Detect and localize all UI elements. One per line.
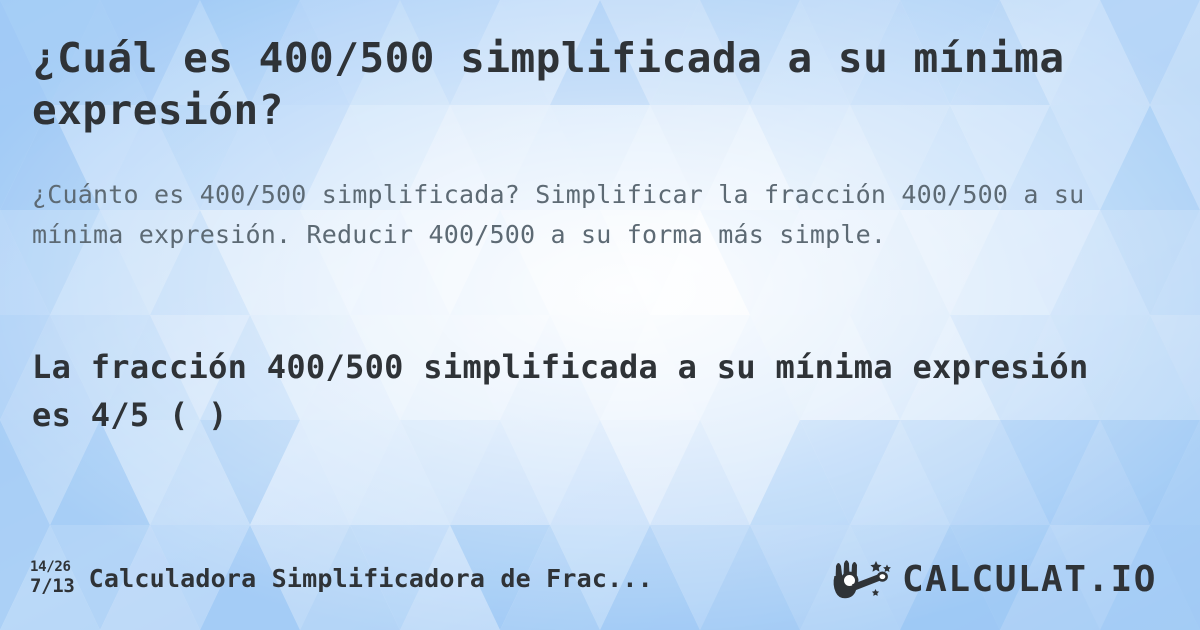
page-title: ¿Cuál es 400/500 simplificada a su mínim… (32, 32, 1092, 136)
brand-logo[interactable]: CALCULAT.IO (830, 556, 1170, 600)
fraction-simplify-icon: 14/26 7/13 (30, 560, 75, 596)
footer-bar: 14/26 7/13 Calculadora Simplificadora de… (0, 554, 1200, 602)
fraction-icon-original: 14/26 (30, 560, 71, 574)
hand-magic-wand-icon (834, 560, 891, 598)
fraction-icon-simplified: 7/13 (30, 577, 75, 596)
answer-statement: La fracción 400/500 simplificada a su mí… (32, 343, 1107, 439)
page-description: ¿Cuánto es 400/500 simplificada? Simplif… (32, 175, 1127, 255)
og-image-card: ¿Cuál es 400/500 simplificada a su mínim… (0, 0, 1200, 630)
content-area: ¿Cuál es 400/500 simplificada a su mínim… (0, 0, 1200, 630)
footer-section-title: Calculadora Simplificadora de Frac... (89, 564, 653, 593)
brand-wordmark: CALCULAT.IO (902, 559, 1157, 600)
